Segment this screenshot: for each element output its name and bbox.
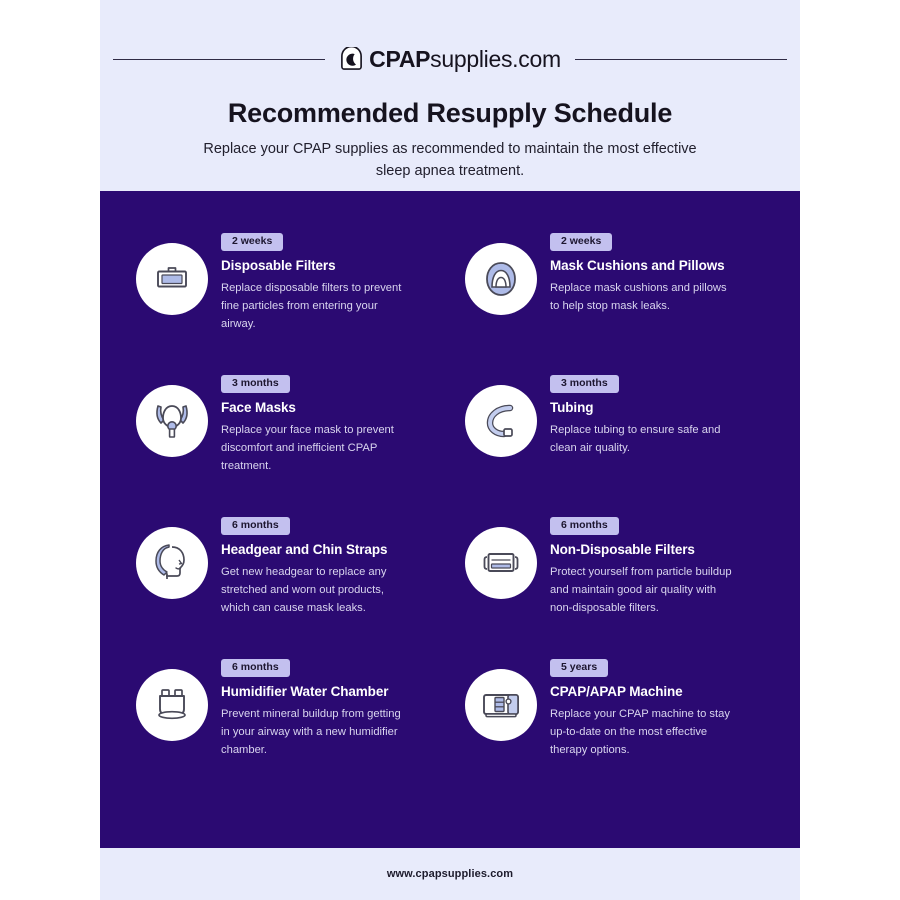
schedule-grid: 2 weeks Disposable Filters Replace dispo… [136, 231, 764, 799]
interval-badge: 2 weeks [221, 233, 283, 251]
infographic-page: CPAPsupplies.com Recommended Resupply Sc… [0, 0, 900, 900]
schedule-item: 5 years CPAP/APAP Machine Replace your C… [465, 657, 764, 799]
footer: www.cpapsupplies.com [100, 848, 800, 900]
item-title: Disposable Filters [221, 258, 403, 274]
item-title: Headgear and Chin Straps [221, 542, 403, 558]
schedule-panel: 2 weeks Disposable Filters Replace dispo… [100, 191, 800, 848]
icon-badge [465, 243, 537, 315]
item-title: Humidifier Water Chamber [221, 684, 403, 700]
brand-name-light: supplies.com [430, 46, 561, 72]
brand-name-bold: CPAP [369, 46, 430, 72]
item-body: 2 weeks Mask Cushions and Pillows Replac… [550, 231, 732, 315]
item-body: 6 months Non-Disposable Filters Protect … [550, 515, 732, 617]
non-disposable-filter-icon [478, 540, 524, 586]
interval-badge: 6 months [221, 659, 290, 677]
schedule-item: 3 months Tubing Replace tubing to ensure… [465, 373, 764, 515]
face-mask-icon [149, 398, 195, 444]
divider-right [575, 59, 787, 60]
brand-name: CPAPsupplies.com [369, 48, 561, 71]
schedule-item: 3 months Face Masks Replace your face ma… [136, 373, 435, 515]
icon-badge [465, 527, 537, 599]
item-title: Mask Cushions and Pillows [550, 258, 732, 274]
footer-website: www.cpapsupplies.com [387, 868, 513, 880]
item-title: Face Masks [221, 400, 403, 416]
interval-badge: 3 months [550, 375, 619, 393]
item-body: 3 months Tubing Replace tubing to ensure… [550, 373, 732, 457]
icon-badge [465, 669, 537, 741]
tubing-icon [479, 399, 523, 443]
item-body: 2 weeks Disposable Filters Replace dispo… [221, 231, 403, 333]
icon-badge [136, 243, 208, 315]
interval-badge: 3 months [221, 375, 290, 393]
item-body: 6 months Humidifier Water Chamber Preven… [221, 657, 403, 759]
interval-badge: 6 months [221, 517, 290, 535]
interval-badge: 2 weeks [550, 233, 612, 251]
item-description: Get new headgear to replace any stretche… [221, 563, 403, 617]
logo-row: CPAPsupplies.com [100, 42, 800, 76]
mask-cushion-icon [479, 257, 523, 301]
item-title: CPAP/APAP Machine [550, 684, 732, 700]
divider-left [113, 59, 325, 60]
item-description: Replace your face mask to prevent discom… [221, 421, 403, 475]
page-subtitle: Replace your CPAP supplies as recommende… [190, 138, 710, 183]
schedule-item: 6 months Headgear and Chin Straps Get ne… [136, 515, 435, 657]
disposable-filter-icon [150, 257, 194, 301]
icon-badge [136, 385, 208, 457]
icon-badge [136, 527, 208, 599]
icon-badge [465, 385, 537, 457]
headgear-icon [149, 540, 195, 586]
item-body: 3 months Face Masks Replace your face ma… [221, 373, 403, 475]
schedule-item: 6 months Humidifier Water Chamber Preven… [136, 657, 435, 799]
item-description: Replace your CPAP machine to stay up-to-… [550, 705, 732, 759]
item-description: Replace tubing to ensure safe and clean … [550, 421, 732, 457]
item-description: Protect yourself from particle buildup a… [550, 563, 732, 617]
item-description: Prevent mineral buildup from getting in … [221, 705, 403, 759]
interval-badge: 5 years [550, 659, 608, 677]
schedule-item: 6 months Non-Disposable Filters Protect … [465, 515, 764, 657]
item-body: 5 years CPAP/APAP Machine Replace your C… [550, 657, 732, 759]
brand-logo: CPAPsupplies.com [325, 47, 575, 72]
moon-shield-icon [339, 47, 364, 72]
page-title: Recommended Resupply Schedule [100, 98, 800, 129]
icon-badge [136, 669, 208, 741]
item-body: 6 months Headgear and Chin Straps Get ne… [221, 515, 403, 617]
schedule-item: 2 weeks Mask Cushions and Pillows Replac… [465, 231, 764, 373]
infographic-sheet: CPAPsupplies.com Recommended Resupply Sc… [100, 0, 800, 900]
header: CPAPsupplies.com Recommended Resupply Sc… [100, 0, 800, 191]
item-description: Replace mask cushions and pillows to hel… [550, 279, 732, 315]
interval-badge: 6 months [550, 517, 619, 535]
item-description: Replace disposable filters to prevent fi… [221, 279, 403, 333]
schedule-item: 2 weeks Disposable Filters Replace dispo… [136, 231, 435, 373]
item-title: Non-Disposable Filters [550, 542, 732, 558]
cpap-machine-icon [478, 682, 524, 728]
item-title: Tubing [550, 400, 732, 416]
humidifier-chamber-icon [149, 682, 195, 728]
